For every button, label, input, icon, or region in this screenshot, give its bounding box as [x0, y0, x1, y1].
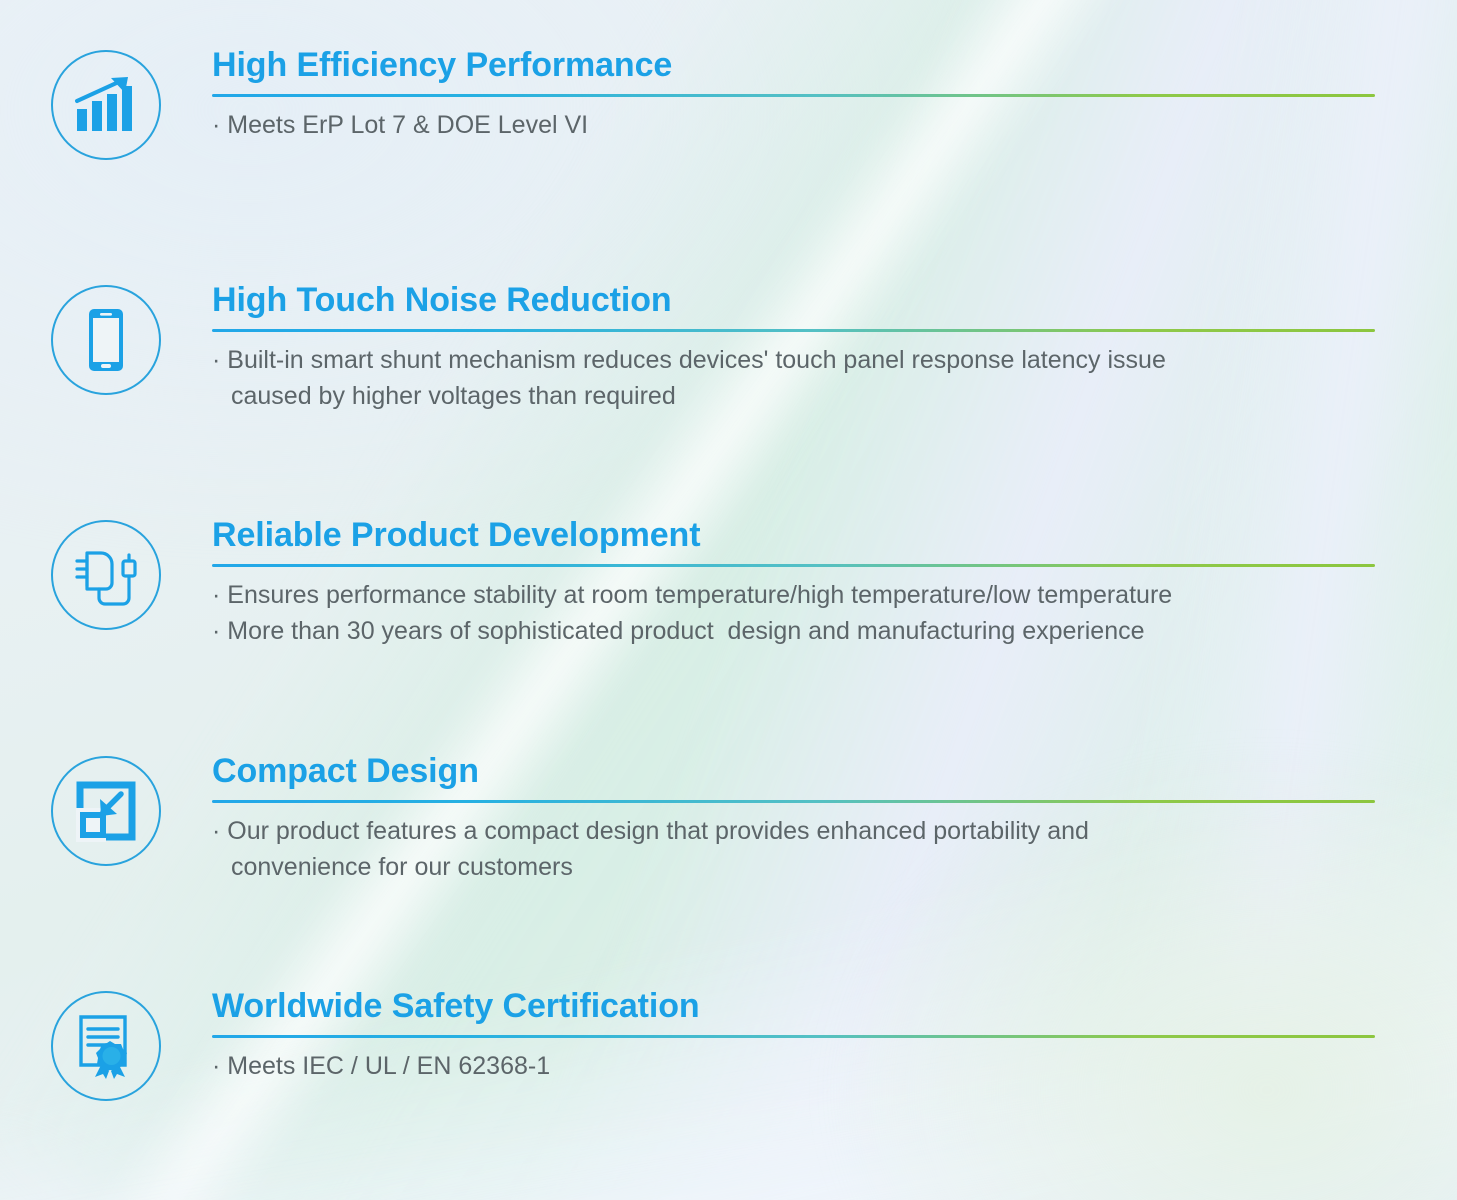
bullet-text: Meets IEC / UL / EN 62368-1 [227, 1052, 550, 1080]
feature-icon-container [0, 281, 212, 395]
feature-divider [212, 1035, 1375, 1038]
feature-title: Reliable Product Development [212, 516, 1375, 554]
bullet-marker: · [212, 346, 220, 374]
bullet-text: Ensures performance stability at room te… [227, 581, 1172, 609]
bullet-text: Meets ErP Lot 7 & DOE Level VI [227, 111, 588, 139]
feature-item-worldwide-safety-certification: Worldwide Safety Certification · Meets I… [0, 987, 1457, 1101]
feature-title: High Efficiency Performance [212, 46, 1375, 84]
feature-title: Worldwide Safety Certification [212, 987, 1375, 1025]
bullet-line: · Meets IEC / UL / EN 62368-1 [212, 1049, 1375, 1085]
feature-text-column: Compact Design · Our product features a … [212, 752, 1457, 885]
bullet-text: More than 30 years of sophisticated prod… [227, 617, 1144, 645]
bullet-marker: · [212, 111, 220, 139]
feature-bullets: · Our product features a compact design … [212, 814, 1375, 885]
feature-bullets: · Built-in smart shunt mechanism reduces… [212, 343, 1375, 414]
feature-text-column: Worldwide Safety Certification · Meets I… [212, 987, 1457, 1085]
feature-item-high-touch-noise-reduction: High Touch Noise Reduction · Built-in sm… [0, 281, 1457, 414]
feature-divider [212, 800, 1375, 803]
bullet-line: · Built-in smart shunt mechanism reduces… [212, 343, 1375, 379]
feature-icon-container [0, 516, 212, 630]
bullet-text: Our product features a compact design th… [227, 817, 1089, 845]
bullet-marker: · [212, 617, 220, 645]
bullet-text: Built-in smart shunt mechanism reduces d… [227, 346, 1166, 374]
feature-divider [212, 94, 1375, 97]
feature-icon-container [0, 46, 212, 160]
feature-divider [212, 329, 1375, 332]
bullet-line: · Meets ErP Lot 7 & DOE Level VI [212, 108, 1375, 144]
feature-text-column: High Efficiency Performance · Meets ErP … [212, 46, 1457, 144]
feature-text-column: Reliable Product Development · Ensures p… [212, 516, 1457, 649]
bullet-line: · Our product features a compact design … [212, 814, 1375, 850]
feature-divider [212, 564, 1375, 567]
feature-title: High Touch Noise Reduction [212, 281, 1375, 319]
feature-item-compact-design: Compact Design · Our product features a … [0, 752, 1457, 885]
feature-icon-container [0, 752, 212, 866]
feature-icon-container [0, 987, 212, 1101]
feature-title: Compact Design [212, 752, 1375, 790]
compact-resize-icon [51, 756, 161, 866]
bullet-marker: · [212, 817, 220, 845]
feature-item-reliable-product-development: Reliable Product Development · Ensures p… [0, 516, 1457, 649]
certificate-award-icon [51, 991, 161, 1101]
feature-bullets: · Meets ErP Lot 7 & DOE Level VI [212, 108, 1375, 144]
feature-item-high-efficiency-performance: High Efficiency Performance · Meets ErP … [0, 46, 1457, 160]
growth-bar-chart-icon [51, 50, 161, 160]
bullet-line: · More than 30 years of sophisticated pr… [212, 614, 1375, 650]
feature-list-page: High Efficiency Performance · Meets ErP … [0, 0, 1457, 1200]
feature-text-column: High Touch Noise Reduction · Built-in sm… [212, 281, 1457, 414]
bullet-marker: · [212, 1052, 220, 1080]
bullet-line-continuation: convenience for our customers [212, 850, 1375, 886]
power-adapter-icon [51, 520, 161, 630]
bullet-marker: · [212, 581, 220, 609]
feature-bullets: · Ensures performance stability at room … [212, 578, 1375, 649]
bullet-line-continuation: caused by higher voltages than required [212, 379, 1375, 415]
bullet-line: · Ensures performance stability at room … [212, 578, 1375, 614]
feature-bullets: · Meets IEC / UL / EN 62368-1 [212, 1049, 1375, 1085]
smartphone-icon [51, 285, 161, 395]
